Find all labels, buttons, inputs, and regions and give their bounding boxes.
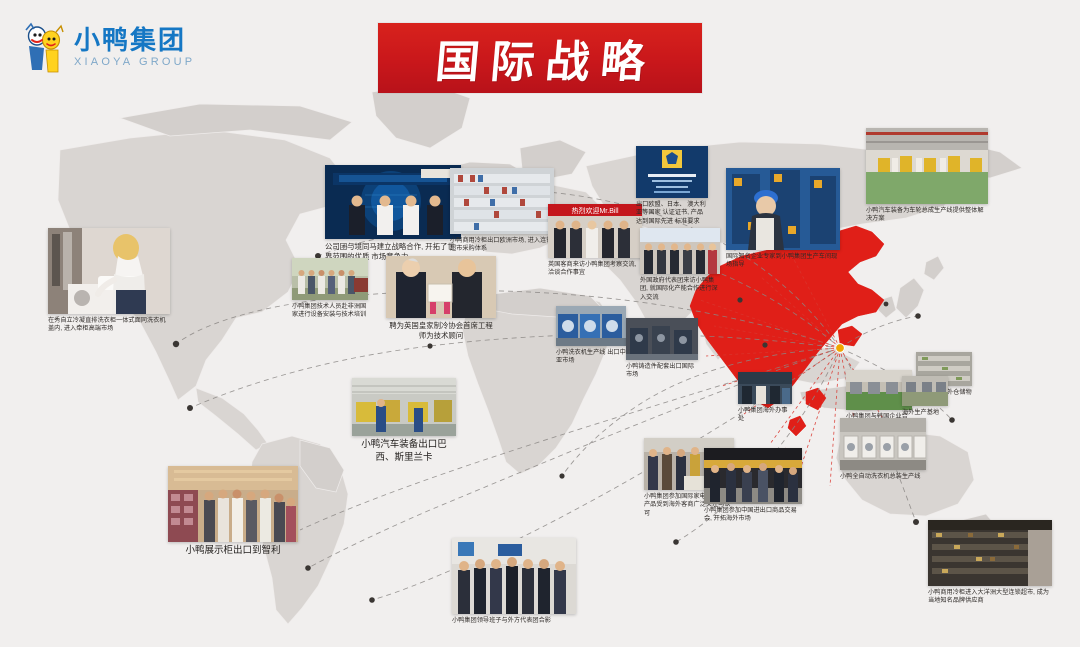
- photo-supermarket-shelves-wide: [928, 520, 1052, 586]
- photo-caption: 小鸭洗衣机生产线 出口中亚市场: [556, 349, 626, 366]
- photo-award-handshake: [386, 256, 496, 318]
- photo-group-photo-red-banner: 热烈欢迎Mr.Bill: [548, 204, 642, 258]
- photo-card-washer-factory: 小鸭全自动洗衣机总装生产线: [840, 418, 926, 481]
- photo-card-exec-group-photo: 小鸭集团领导班子与外方代表团合影: [452, 538, 576, 625]
- photo-office-corridor: [738, 372, 792, 404]
- photo-card-factory-small-right: 海外生产基地: [902, 376, 948, 417]
- page-title: 国际战略: [422, 26, 659, 90]
- logo-text-en: XIAOYA GROUP: [74, 57, 195, 68]
- photo-caption: 小鸭展示柜出口到智利: [168, 545, 298, 558]
- photo-woman-loading-washing-machine: [48, 228, 170, 314]
- photo-engine-castings: [626, 318, 698, 360]
- photo-engineer-blue-helmet: [726, 168, 840, 250]
- photo-caption: 小鸭铸造件配套出口国际市场: [626, 363, 698, 380]
- photo-caption: 小鸭集团技术人员赴非洲国家进行设备安装与技术培训: [292, 303, 368, 320]
- photo-signing-ceremony-stage: [325, 165, 461, 239]
- photo-delegation-group-photo: [640, 228, 720, 274]
- poster-canvas: 小鸭集团 XIAOYA GROUP 国际战略: [0, 0, 1080, 647]
- photo-caption: 小鸭汽车装备为车轮总成生产线提供整体解决方案: [866, 207, 988, 224]
- photo-wide-factory-floor: [866, 128, 988, 204]
- photo-caption: 英国客商来访小鸭集团考察交流, 洽谈合作事宜: [548, 261, 642, 278]
- photo-card-certificate-award: 出口欧盟、日本、 澳大利亚等国家 认证证书, 产品达到国际先进 标准要求: [636, 146, 708, 226]
- photo-blue-machine-line: [556, 306, 626, 346]
- photo-card-delegation-visit: 外国政府代表团来访小鸭集团, 就国际化产能合作进行深入交流: [640, 228, 720, 302]
- photo-executives-line-up: [452, 538, 576, 614]
- brand-logo: 小鸭集团 XIAOYA GROUP: [22, 20, 195, 74]
- photo-card-supermarket-cabinet-eu: 小鸭商用冷柜出口欧洲市场, 进入连锁超市采购体系: [450, 168, 554, 254]
- photo-caption: 小鸭集团领导班子与外方代表团合影: [452, 617, 576, 625]
- photo-auto-assembly-line: [352, 378, 456, 436]
- photo-card-auto-equipment-brazil: 小鸭汽车装备出口巴西、斯里兰卡: [352, 378, 456, 465]
- photo-showroom-group-photo: [168, 466, 298, 542]
- photo-caption: 国际知名企业专家到小鸭集团生产车间现场指导: [726, 253, 840, 270]
- photo-caption: 聘为英国皇家制冷协会首席工程师为技术顾问: [386, 321, 496, 341]
- photo-washer-assembly: [840, 418, 926, 470]
- photo-card-display-cabinet-chile: 小鸭展示柜出口到智利: [168, 466, 298, 558]
- photo-caption: 小鸭全自动洗衣机总装生产线: [840, 473, 926, 481]
- photo-card-japan-office: 小鸭集团海外办事处: [738, 372, 792, 424]
- photo-card-australia-supermarket: 小鸭商用冷柜进入大洋洲大型连锁超市, 成为当地知名品牌供应商: [928, 520, 1052, 606]
- photo-card-product-line-blue: 小鸭洗衣机生产线 出口中亚市场: [556, 306, 626, 366]
- photo-caption: 出口欧盟、日本、 澳大利亚等国家 认证证书, 产品达到国际先进 标准要求: [636, 201, 708, 226]
- photo-card-kenya-training: 小鸭集团技术人员赴非洲国家进行设备安装与技术培训: [292, 258, 368, 320]
- photo-caption: 外国政府代表团来访小鸭集团, 就国际化产能合作进行深入交流: [640, 277, 720, 302]
- photo-card-engine-parts: 小鸭铸造件配套出口国际市场: [626, 318, 698, 380]
- photo-caption: 在秀自立冷凝直排洗衣柜一体式面同洗衣机盖内, 进入牵柜高端市场: [48, 317, 170, 334]
- svg-text:热烈欢迎Mr.Bill: 热烈欢迎Mr.Bill: [571, 206, 618, 215]
- photo-small-factory: [902, 376, 948, 406]
- photo-card-factory-worker-blue: 国际知名企业专家到小鸭集团生产车间现场指导: [726, 168, 840, 270]
- photo-card-auto-plant-wide: 小鸭汽车装备为车轮总成生产线提供整体解决方案: [866, 128, 988, 224]
- logo-text-cn: 小鸭集团: [74, 27, 195, 53]
- photo-exhibition-hall-crowd: [704, 448, 802, 504]
- photo-caption: 小鸭集团海外办事处: [738, 407, 792, 424]
- photo-card-signing-ceremony: 公司团与境同马建立战略合作, 开拓了世界范围的优质 市场竞争力: [325, 165, 461, 262]
- photo-certificate-blue: [636, 146, 708, 198]
- photo-caption: 小鸭集团参加中国进出口商品交易会, 开拓海外市场: [704, 507, 802, 524]
- photo-card-expo-booth-b: 小鸭集团参加中国进出口商品交易会, 开拓海外市场: [704, 448, 802, 524]
- photo-caption: 小鸭商用冷柜进入大洋洲大型连锁超市, 成为当地知名品牌供应商: [928, 589, 1052, 606]
- photo-outdoor-team-photo: [292, 258, 368, 300]
- photo-caption: 小鸭商用冷柜出口欧洲市场, 进入连锁超市采购体系: [450, 237, 554, 254]
- photo-card-royal-refrigeration: 聘为英国皇家制冷协会首席工程师为技术顾问: [386, 256, 496, 341]
- title-banner: 国际战略: [378, 23, 702, 93]
- photo-caption: 海外生产基地: [902, 409, 948, 417]
- duck-mascot-icon: [22, 20, 66, 74]
- photo-card-chile-laundry: 在秀自立冷凝直排洗衣柜一体式面同洗衣机盖内, 进入牵柜高端市场: [48, 228, 170, 334]
- photo-card-welcome-mr-bill: 热烈欢迎Mr.Bill 英国客商来访小鸭集团考察交流, 洽谈合作事宜: [548, 204, 642, 278]
- photo-supermarket-refrigerated-aisle: [450, 168, 554, 234]
- photo-caption: 小鸭汽车装备出口巴西、斯里兰卡: [352, 439, 456, 465]
